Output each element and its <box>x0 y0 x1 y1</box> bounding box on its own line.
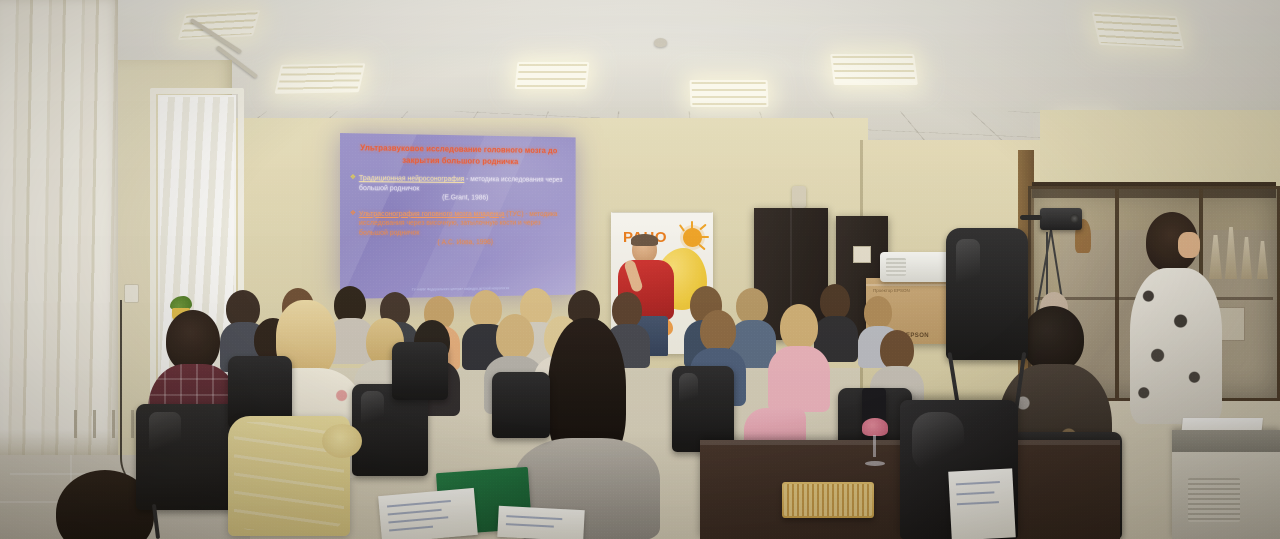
chair[interactable] <box>946 228 1028 360</box>
ceiling-panel-light <box>274 63 365 93</box>
slide-content: Ультразвуковое исследование головного мо… <box>340 133 576 299</box>
bullet-1-term: Традиционная нейросонография <box>359 173 464 183</box>
projector-lens-icon <box>886 258 906 276</box>
slide-bullet-2: ❖ Ультрасонография головного мозга младе… <box>350 209 567 247</box>
bullet-2-source: ( А.С. Иова, 1996) <box>359 236 567 247</box>
presenter-hair <box>631 234 658 246</box>
banner-rail <box>611 212 713 213</box>
slide-title: Ультразвуковое исследование головного мо… <box>350 142 567 168</box>
flower-vase[interactable] <box>858 418 892 466</box>
notes-paper[interactable] <box>497 506 585 539</box>
notes-paper[interactable] <box>378 488 478 539</box>
chair[interactable] <box>392 342 448 400</box>
vertical-blinds[interactable] <box>0 0 118 455</box>
ceiling-panel-light <box>515 62 590 89</box>
ceiling-panel-light <box>830 54 918 85</box>
camcorder-icon[interactable] <box>1040 208 1082 230</box>
notes-paper[interactable] <box>948 468 1016 539</box>
printer[interactable] <box>1172 430 1280 539</box>
cookie-tray[interactable] <box>782 482 874 518</box>
printer-lid[interactable] <box>1172 430 1280 452</box>
diamond-bullet-icon: ❖ <box>350 173 356 202</box>
slide-bullet-1: ❖ Традиционная нейросонография - методик… <box>350 173 567 202</box>
diamond-bullet-icon: ❖ <box>350 209 356 247</box>
ceiling-panel-light <box>690 80 769 107</box>
ceiling-panel-light <box>1092 12 1185 49</box>
bullet-1-source: (E.Grant, 1986) <box>359 192 567 202</box>
microphone-icon <box>1020 215 1042 220</box>
wall-speaker-icon <box>792 186 806 208</box>
jacket-hood <box>322 424 362 458</box>
printer-vent <box>1188 478 1240 522</box>
face <box>1178 232 1200 258</box>
projection-screen: Ультразвуковое исследование головного мо… <box>340 133 576 299</box>
chair[interactable] <box>492 372 550 438</box>
box-label: Проектор EPSON <box>873 288 910 294</box>
camera-lens-icon <box>1070 214 1079 223</box>
bullet-2-term: Ультрасонография головного мозга младенц… <box>359 209 504 218</box>
flowers-icon <box>862 418 888 436</box>
smoke-detector-icon <box>654 38 667 47</box>
chair[interactable] <box>136 404 242 510</box>
cabinet-notice <box>853 246 871 263</box>
seminar-room-photo: Ультразвуковое исследование головного мо… <box>0 0 1280 539</box>
